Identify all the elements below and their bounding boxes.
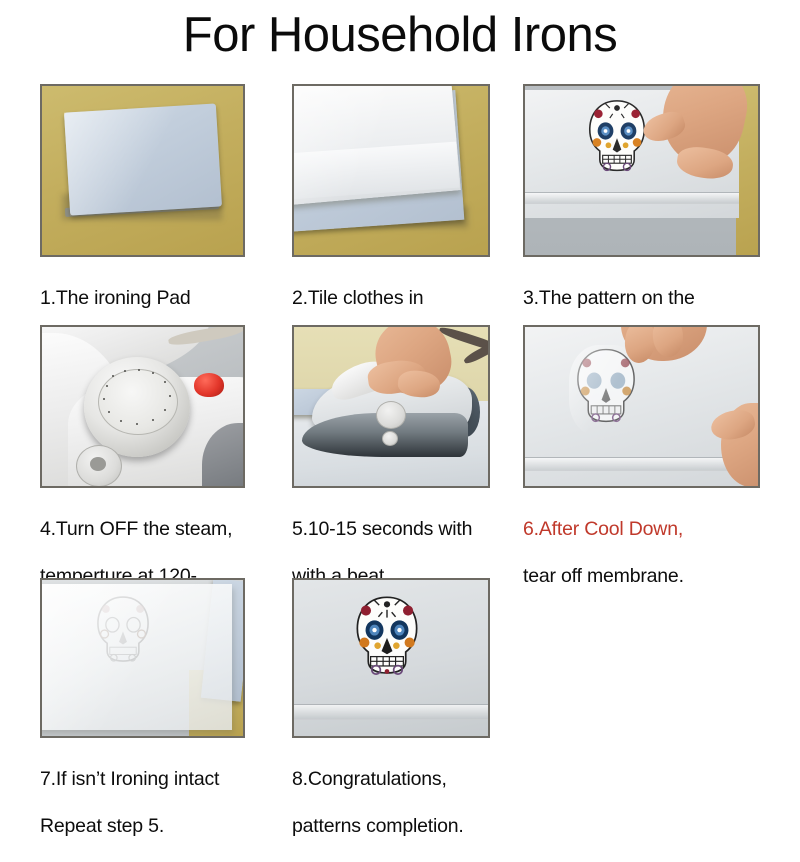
- page-title: For Household Irons: [0, 6, 800, 64]
- step-caption-4-line1: 4.Turn OFF the steam,: [40, 518, 245, 542]
- step-caption-8: 8.Congratulations, patterns completion.: [292, 744, 490, 862]
- step-card-6: 6.After Cool Down, tear off membrane.: [523, 325, 760, 612]
- step-caption-7-line1: 7.If isn’t Ironing intact: [40, 768, 245, 792]
- skull-pattern-icon: [581, 98, 653, 184]
- step-caption-8-line2: patterns completion.: [292, 815, 490, 839]
- step-image-3: [523, 84, 760, 257]
- step-image-6: [523, 325, 760, 488]
- step-image-7: [40, 578, 245, 738]
- steps-grid: 1.The ironing Pad on the platform. 2.Til…: [0, 84, 800, 818]
- step-card-8: 8.Congratulations, patterns completion.: [292, 578, 490, 862]
- step-card-5: 5.10-15 seconds with with a beat.: [292, 325, 490, 612]
- step-caption-7-line2: Repeat step 5.: [40, 815, 245, 839]
- step-caption-8-line1: 8.Congratulations,: [292, 768, 490, 792]
- step-caption-5-line1: 5.10-15 seconds with: [292, 518, 490, 542]
- step-caption-7: 7.If isn’t Ironing intact Repeat step 5.: [40, 744, 245, 862]
- step-card-7: 7.If isn’t Ironing intact Repeat step 5.: [40, 578, 245, 862]
- steps-row-3: 7.If isn’t Ironing intact Repeat step 5.: [0, 578, 800, 818]
- steps-row-1: 1.The ironing Pad on the platform. 2.Til…: [0, 84, 800, 316]
- steps-row-2: 4.Turn OFF the steam, temperture at 120-…: [0, 325, 800, 568]
- step-image-1: [40, 84, 245, 257]
- instruction-poster: For Household Irons 1.The ironing Pad on…: [0, 0, 800, 800]
- step-image-5: [292, 325, 490, 488]
- step-image-4: [40, 325, 245, 488]
- step-image-8: [292, 578, 490, 738]
- skull-pattern-icon: [348, 594, 426, 688]
- step-caption-1-line1: 1.The ironing Pad: [40, 287, 245, 311]
- step-caption-3-line1: 3.The pattern on the: [523, 287, 760, 311]
- step-image-2: [292, 84, 490, 257]
- step-caption-6-line1: 6.After Cool Down,: [523, 518, 760, 542]
- step-caption-2-line1: 2.Tile clothes in: [292, 287, 490, 311]
